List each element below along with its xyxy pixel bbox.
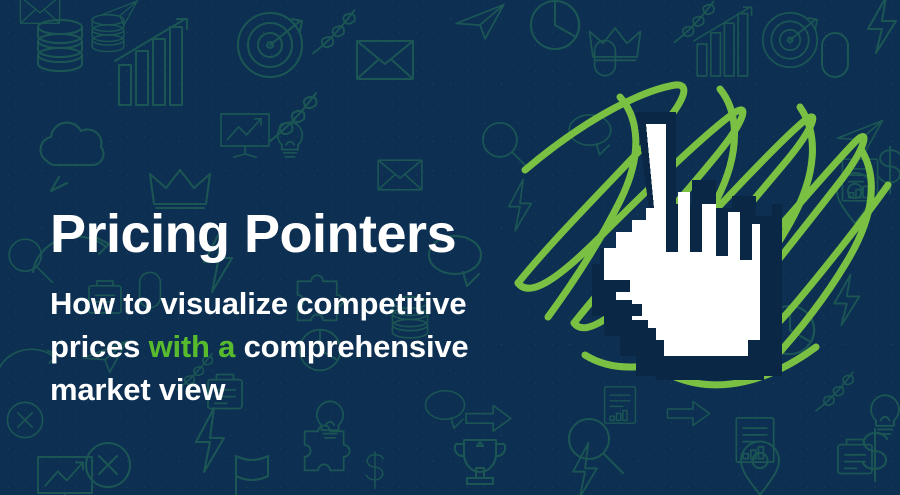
subtitle-highlight: with a xyxy=(149,329,236,364)
page-title: Pricing Pointers xyxy=(50,205,550,263)
banner-text-block: Pricing Pointers How to visualize compet… xyxy=(50,205,550,412)
banner-subtitle: How to visualize competitive prices with… xyxy=(50,283,530,411)
pricing-pointers-banner: Pricing Pointers How to visualize compet… xyxy=(0,0,900,495)
